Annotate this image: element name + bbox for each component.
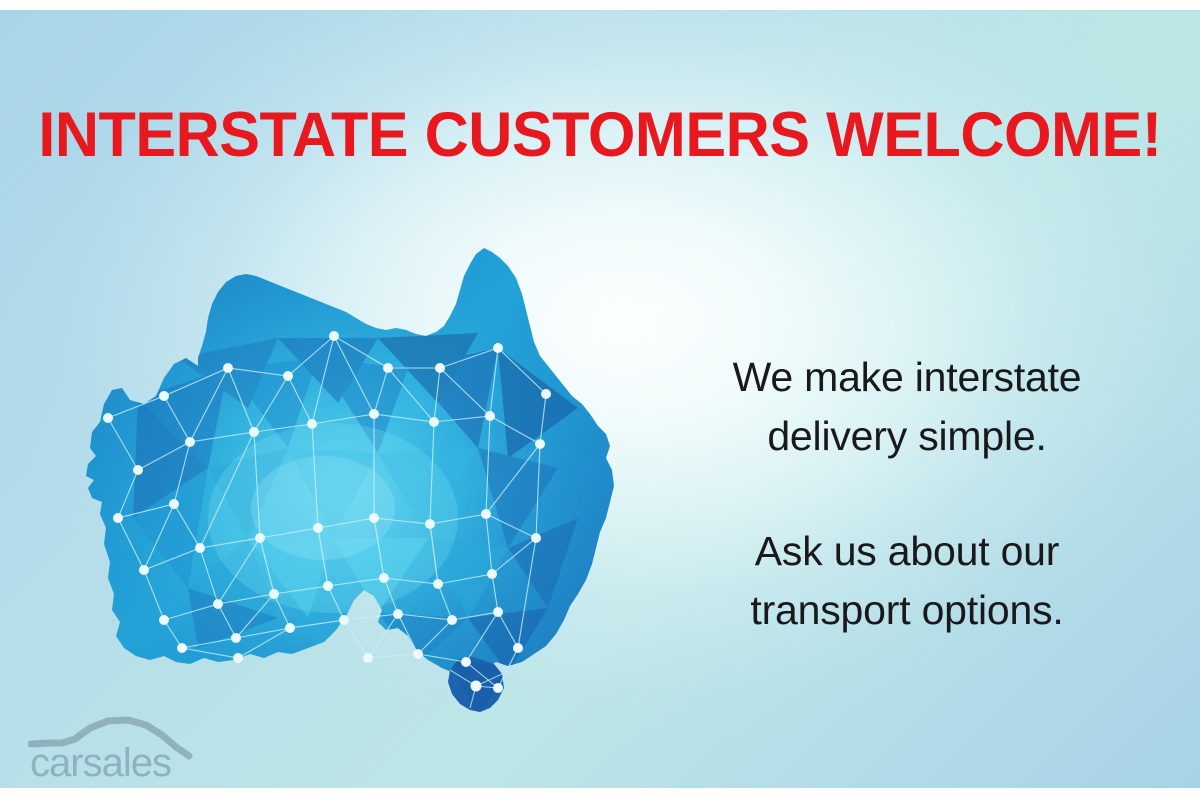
top-white-strip [0,0,1200,10]
bottom-white-strip [0,788,1200,800]
copy-line-4: transport options. [672,581,1142,640]
copy-spacer [672,466,1142,522]
headline: INTERSTATE CUSTOMERS WELCOME! [18,100,1182,170]
promotional-banner: INTERSTATE CUSTOMERS WELCOME! [0,0,1200,800]
map-mainland [78,218,648,738]
copy-line-1: We make interstate [672,348,1142,407]
carsales-watermark: carsales [28,712,203,780]
australia-map [78,218,648,738]
promo-copy: We make interstate delivery simple. Ask … [672,348,1142,640]
carsales-wordmark: carsales [30,741,171,780]
copy-line-3: Ask us about our [672,522,1142,581]
copy-line-2: delivery simple. [672,407,1142,466]
